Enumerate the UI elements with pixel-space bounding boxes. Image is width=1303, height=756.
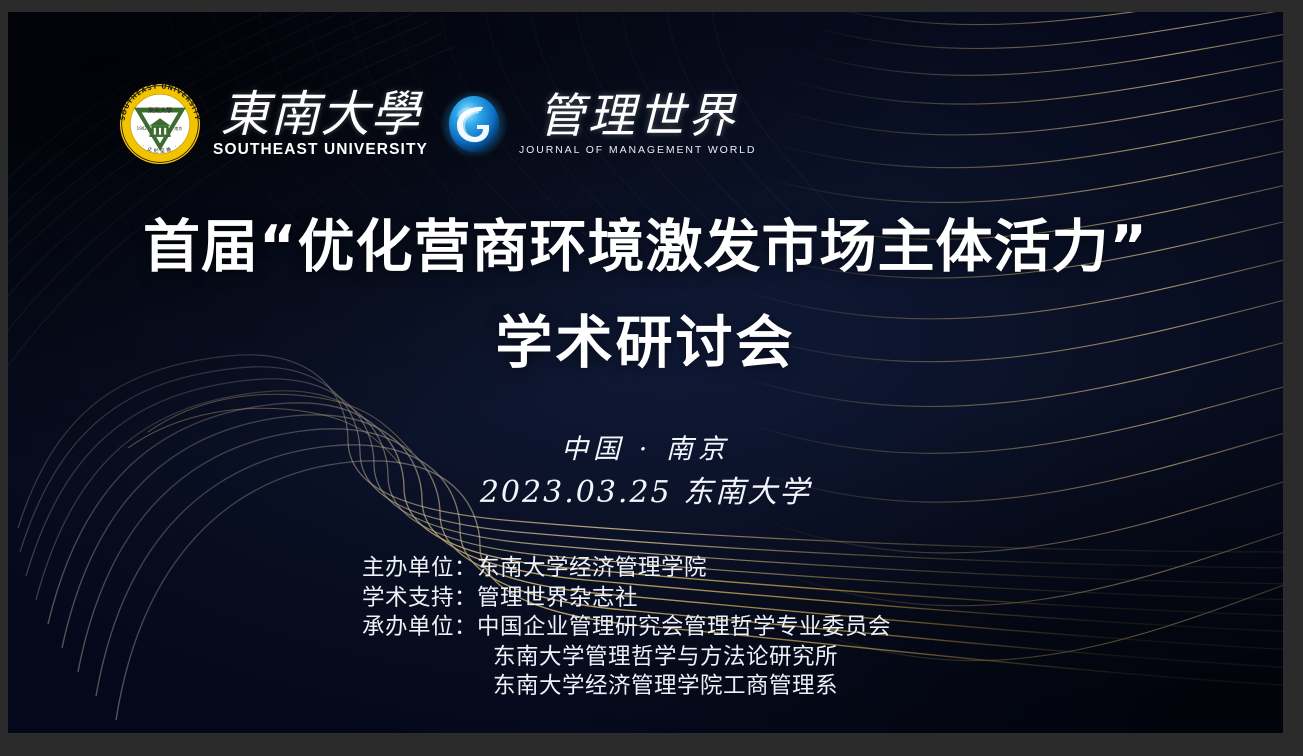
organizer-row: 承办单位：中国企业管理研究会管理哲学专业委员会 xyxy=(362,613,891,643)
svg-text:南京: 南京 xyxy=(174,126,182,131)
page-title-line1: 首届“优化营商环境激发市场主体活力” xyxy=(8,210,1283,284)
organizer-value: 管理世界杂志社 xyxy=(477,585,638,611)
organizer-value: 中国企业管理研究会管理哲学专业委员会 xyxy=(477,614,891,640)
jmw-wordmark-en: JOURNAL OF MANAGEMENT WORLD xyxy=(519,144,756,156)
organizer-row: 学术支持：管理世界杂志社 xyxy=(362,584,891,614)
journal-management-world-sphere-icon xyxy=(439,89,509,159)
southeast-university-seal-icon: 東南大學 1902 南京 SOUTHEAST UNIVERSITY · 止於至善… xyxy=(112,76,208,172)
svg-text:1902: 1902 xyxy=(137,126,148,131)
organizer-label: 学术支持： xyxy=(362,585,477,611)
jmw-wordmark-cn: 管理世界 xyxy=(538,93,738,140)
slide-canvas: 東南大學 1902 南京 SOUTHEAST UNIVERSITY · 止於至善… xyxy=(8,12,1283,733)
organizer-block: 主办单位：东南大学经济管理学院 学术支持：管理世界杂志社 承办单位：中国企业管理… xyxy=(362,554,891,702)
southeast-university-wordmark: 東南大學 SOUTHEAST UNIVERSITY xyxy=(218,90,423,159)
organizer-label: 承办单位： xyxy=(362,614,477,640)
title-block: 首届“优化营商环境激发市场主体活力” 学术研讨会 xyxy=(8,210,1283,380)
event-meta-block: 中国 · 南京 2023.03.25 东南大学 xyxy=(8,430,1283,514)
page-title-line2: 学术研讨会 xyxy=(8,306,1283,380)
journal-management-world-wordmark: 管理世界 JOURNAL OF MANAGEMENT WORLD xyxy=(519,93,756,156)
organizer-value: 东南大学经济管理学院 xyxy=(477,555,707,581)
seu-wordmark-cn: 東南大學 xyxy=(220,90,420,139)
organizer-row: 主办单位：东南大学经济管理学院 xyxy=(362,554,891,584)
presentation-viewport: 東南大學 1902 南京 SOUTHEAST UNIVERSITY · 止於至善… xyxy=(0,0,1303,756)
svg-text:東南大學: 東南大學 xyxy=(148,106,173,114)
organizer-row: 东南大学经济管理学院工商管理系 xyxy=(362,672,891,702)
organizer-value: 东南大学管理哲学与方法论研究所 xyxy=(493,644,838,670)
event-place: 中国 · 南京 xyxy=(8,430,1283,470)
seu-wordmark-en: SOUTHEAST UNIVERSITY xyxy=(213,141,428,159)
organizer-row: 东南大学管理哲学与方法论研究所 xyxy=(362,643,891,673)
organizer-label: 主办单位： xyxy=(362,555,477,581)
event-date: 2023.03.25 东南大学 xyxy=(8,472,1283,514)
logo-bar: 東南大學 1902 南京 SOUTHEAST UNIVERSITY · 止於至善… xyxy=(112,74,756,174)
organizer-value: 东南大学经济管理学院工商管理系 xyxy=(493,673,838,699)
